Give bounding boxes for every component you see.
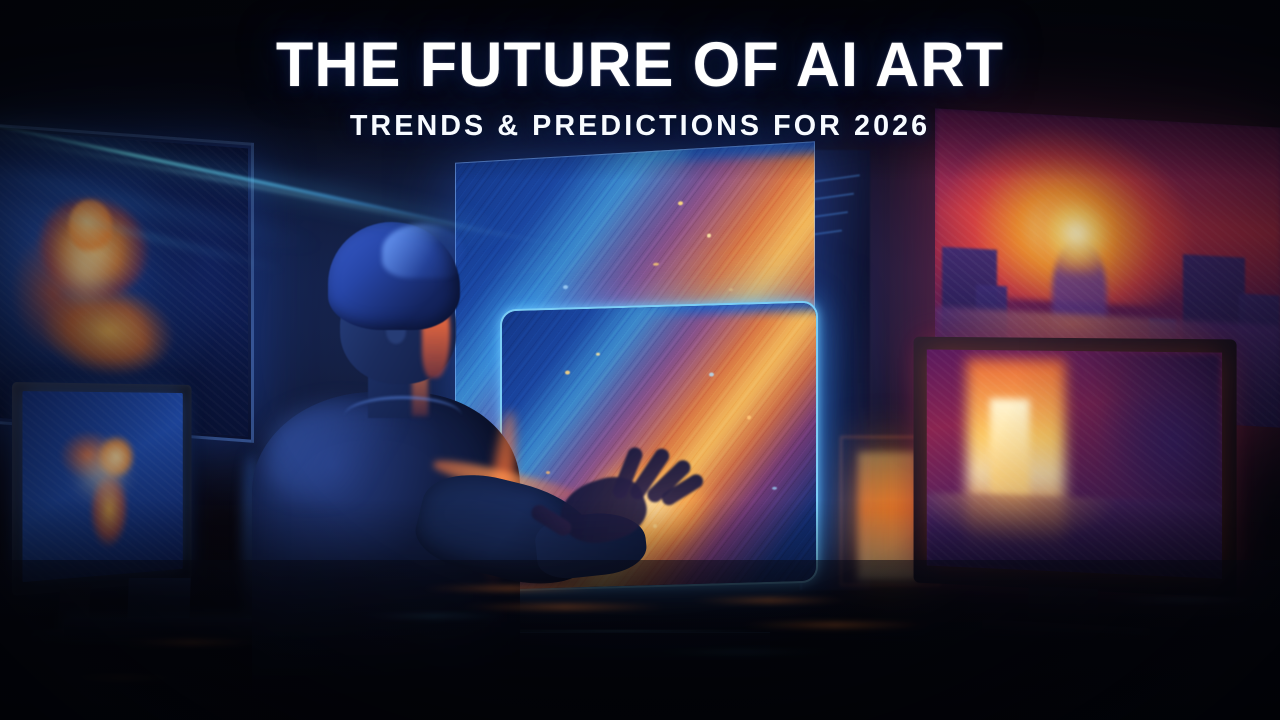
poster-canvas: THE FUTURE OF AI ART TRENDS & PREDICTION… [0,0,1280,720]
bottom-gradient-overlay [0,500,1280,720]
top-gradient-overlay [0,0,1280,180]
